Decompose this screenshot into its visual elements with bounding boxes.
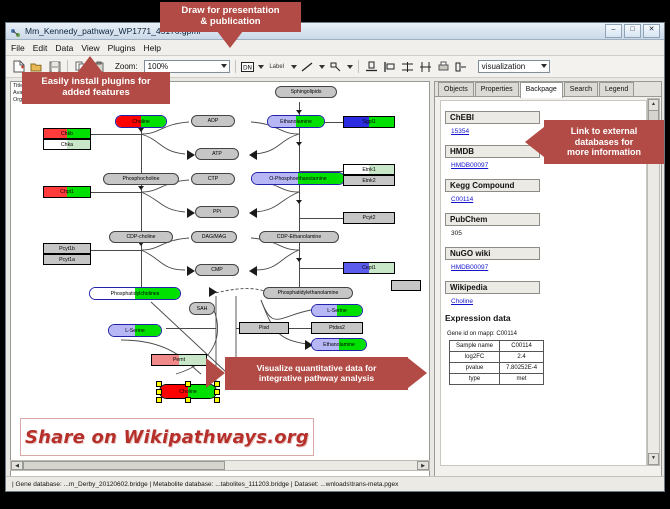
menu-bar: File Edit Data View Plugins Help [6, 40, 664, 56]
datanode-icon[interactable]: DN [241, 59, 254, 74]
selection-handle-s[interactable] [185, 397, 191, 403]
section-header-kegg: Kegg Compound [445, 179, 540, 192]
selection-handle-nw[interactable] [156, 381, 162, 387]
cell-value: met [500, 374, 544, 385]
node-adp[interactable]: ADP [191, 115, 235, 127]
node-label: CDP-choline [126, 234, 155, 240]
selection-handle-se[interactable] [214, 397, 220, 403]
node-label: Pcyt1b [59, 246, 75, 252]
maximize-button[interactable]: □ [624, 24, 641, 38]
interaction-dropdown-icon[interactable] [347, 65, 353, 69]
cell-key: type [450, 374, 500, 385]
menu-item-file[interactable]: File [11, 43, 25, 53]
callout-visualize-arrow-right-icon [408, 358, 427, 388]
node-label: Sphingolipids [291, 89, 322, 95]
node-label: CDP-Ethanolamine [277, 234, 321, 240]
print-icon[interactable] [436, 59, 451, 74]
toolbar-separator-2 [235, 60, 236, 73]
menu-item-plugins[interactable]: Plugins [108, 43, 136, 53]
node-pemt[interactable]: Pemt [151, 354, 207, 366]
node-label: SAH [197, 306, 208, 312]
node-dagmag[interactable]: DAG/MAG [191, 231, 237, 243]
link-wikipedia[interactable]: Choline [451, 298, 642, 305]
callout-plugins: Easily install plugins for added feature… [22, 72, 170, 104]
chevron-down-icon [221, 64, 227, 68]
label-dropdown-icon[interactable] [291, 65, 297, 69]
zoom-value: 100% [148, 62, 168, 71]
node-label: Phosphatidylcholines [111, 291, 160, 297]
node-sah[interactable]: SAH [189, 302, 215, 315]
node-ptdss2[interactable]: Ptdss2 [311, 322, 363, 334]
callout-visualize-arrow-icon [206, 358, 225, 388]
panel-tabs: Objects Properties Backpage Search Legen… [435, 82, 661, 97]
interaction-icon[interactable] [328, 59, 343, 74]
expression-data-title: Expression data [445, 313, 646, 323]
node-label: Sgpl1 [362, 119, 375, 125]
cell-value: 2.4 [500, 352, 544, 363]
node-phosphocholine[interactable]: Phosphocholine [103, 173, 179, 185]
distribute-vertical-icon[interactable] [400, 59, 415, 74]
node-label: CMP [211, 267, 223, 273]
node-pcyt2[interactable]: Pcyt2 [343, 212, 395, 224]
cell-key: log2FC [450, 352, 500, 363]
node-misc-right[interactable] [391, 280, 421, 291]
distribute-horizontal-icon[interactable] [418, 59, 433, 74]
arrow-choline-1 [138, 128, 144, 132]
tab-search[interactable]: Search [564, 82, 598, 96]
section-pubchem: PubChem 305 [445, 209, 642, 237]
chevron-down-icon-2 [541, 64, 547, 68]
section-nugo: NuGO wiki HMDB00097 [445, 243, 642, 271]
node-phosphatidylcholines[interactable]: Phosphatidylcholines [89, 287, 181, 300]
scroll-right-icon[interactable]: ▶ [417, 461, 429, 470]
node-label: PPi [213, 209, 221, 215]
node-label: Ptdss2 [329, 325, 345, 331]
node-label: L-Serine [327, 308, 347, 314]
cell-key: pvalue [450, 363, 500, 374]
node-choline-top[interactable]: Choline [115, 115, 167, 128]
node-label: Phosphatidylethanolamine [278, 290, 339, 296]
expression-table: Sample name C00114 log2FC 2.4 pvalue 7.8… [449, 340, 544, 385]
node-ctp[interactable]: CTP [191, 173, 235, 185]
scroll-down-icon[interactable]: ▼ [648, 453, 659, 465]
status-bar: | Gene database: ...m_Derby_20120602.bri… [6, 476, 664, 491]
section-header-pubchem: PubChem [445, 213, 540, 226]
section-wikipedia: Wikipedia Choline [445, 277, 642, 305]
node-label: ADP [208, 118, 219, 124]
section-header-wikipedia: Wikipedia [445, 281, 540, 294]
datanode-dropdown-icon[interactable] [258, 65, 264, 69]
node-l-serine-left[interactable]: L-Serine [108, 324, 162, 337]
node-ethanolamine-bottom[interactable]: Ethanolamine [311, 338, 367, 351]
stub-chk [91, 134, 141, 135]
selection-handle-sw[interactable] [156, 397, 162, 403]
node-label: Pcyt2 [363, 215, 376, 221]
arrow-etn-3 [296, 258, 302, 262]
tab-properties[interactable]: Properties [475, 82, 519, 96]
node-cdp-ethanolamine[interactable]: CDP-Ethanolamine [259, 231, 339, 243]
node-label: Ethanolamine [280, 119, 312, 125]
node-o-phosphoethanolamine[interactable]: O-Phosphoethanolamine [251, 172, 345, 185]
node-cmp[interactable]: CMP [195, 264, 239, 276]
cell-value: C00114 [500, 341, 544, 352]
stub-pisd [166, 328, 216, 329]
callout-visualize: Visualize quantitative data for integrat… [225, 357, 408, 390]
backbone-ethanolamine [299, 102, 300, 292]
table-row: pvalue 7.80252E-4 [450, 363, 544, 374]
node-label: Pcyt1a [59, 257, 75, 263]
group-icon[interactable] [454, 59, 469, 74]
menu-item-data[interactable]: Data [55, 43, 73, 53]
node-label: ATP [212, 151, 222, 157]
node-label: Ethanolamine [323, 342, 355, 348]
link-kegg[interactable]: C00114 [451, 196, 642, 203]
table-row: type met [450, 374, 544, 385]
node-chka[interactable]: Chka [43, 139, 91, 150]
close-button[interactable]: ✕ [643, 24, 660, 38]
pathvisio-app-icon [10, 26, 21, 37]
node-label: Etnk1 [362, 167, 375, 173]
section-header-nugo: NuGO wiki [445, 247, 540, 260]
node-phosphatidylethanolamine[interactable]: Phosphatidylethanolamine [263, 287, 353, 299]
node-label: Chka [61, 142, 73, 148]
callout-links: Link to external databases for more info… [544, 120, 664, 164]
arrow-choline-2 [138, 186, 144, 190]
toolbar-separator-3 [358, 60, 359, 73]
callout-draw: Draw for presentation & publication [160, 2, 301, 32]
node-label: Choline [132, 119, 150, 125]
node-sphingolipids[interactable]: Sphingolipids [275, 86, 337, 98]
node-label: Etnk2 [362, 178, 375, 184]
stub-cept1 [299, 268, 344, 269]
node-pcyt1b[interactable]: Pcyt1b [43, 243, 91, 254]
node-label: Choline [179, 389, 197, 395]
node-chkb[interactable]: Chkb [43, 128, 91, 139]
screenshot-root: Mm_Kennedy_pathway_WP1771_45176.gpml – □… [0, 0, 670, 509]
node-label: CTP [208, 176, 218, 182]
node-label: Chpt1 [60, 189, 74, 195]
arrow-etn-0 [296, 110, 302, 114]
node-label: Chkb [61, 131, 73, 137]
node-pisd[interactable]: Pisd [239, 322, 289, 334]
callout-share-box: Share on Wikipathways.org [20, 418, 314, 456]
node-etnk1[interactable]: Etnk1 [343, 164, 395, 175]
selection-handle-w[interactable] [156, 389, 162, 395]
selection-handle-e[interactable] [214, 389, 220, 395]
backbone-choline [141, 120, 142, 290]
arrow-etn-1 [296, 142, 302, 146]
stub-pcyt2 [299, 218, 344, 219]
node-pcyt1a[interactable]: Pcyt1a [43, 254, 91, 265]
section-kegg: Kegg Compound C00114 [445, 175, 642, 203]
section-header-chebi: ChEBI [445, 111, 540, 124]
node-cdp-choline[interactable]: CDP-choline [109, 231, 173, 243]
node-ppi[interactable]: PPi [195, 206, 239, 218]
zoom-label: Zoom: [115, 62, 138, 71]
hscroll-thumb[interactable] [23, 461, 225, 470]
gene-id-line: Gene id on mapp: C00114 [447, 331, 646, 337]
label-tool-icon[interactable]: Label [267, 59, 287, 74]
selection-handle-n[interactable] [185, 381, 191, 387]
value-pubchem: 305 [451, 230, 642, 237]
node-ethanolamine-top[interactable]: Ethanolamine [267, 115, 325, 128]
node-label: Cept1 [362, 265, 376, 271]
minimize-button[interactable]: – [605, 24, 622, 38]
menu-item-help[interactable]: Help [144, 43, 161, 53]
link-nugo[interactable]: HMDB00097 [451, 264, 642, 271]
node-label: Pemt [173, 357, 185, 363]
tab-legend[interactable]: Legend [599, 82, 634, 96]
status-text: | Gene database: ...m_Derby_20120602.bri… [6, 481, 398, 488]
tab-backpage[interactable]: Backpage [520, 82, 563, 98]
node-l-serine-right[interactable]: L-Serine [311, 304, 363, 317]
canvas-horizontal-scrollbar[interactable]: ◀ ▶ [10, 460, 430, 471]
node-chpt1[interactable]: Chpt1 [43, 186, 91, 198]
node-atp[interactable]: ATP [195, 148, 239, 160]
cell-key: Sample name [450, 341, 500, 352]
callout-draw-arrow-icon [217, 31, 243, 48]
node-sgpl1[interactable]: Sgpl1 [343, 116, 395, 128]
scroll-left-icon[interactable]: ◀ [11, 461, 23, 470]
callout-share-text: Share on Wikipathways.org [25, 427, 309, 448]
line-icon[interactable] [300, 59, 315, 74]
line-dropdown-icon[interactable] [319, 65, 325, 69]
menu-item-view[interactable]: View [81, 43, 99, 53]
node-cept1[interactable]: Cept1 [343, 262, 395, 274]
window-controls: – □ ✕ [605, 24, 660, 38]
table-row: log2FC 2.4 [450, 352, 544, 363]
node-label: DAG/MAG [202, 234, 227, 240]
tab-objects[interactable]: Objects [438, 82, 474, 96]
visualization-combobox[interactable]: visualization [478, 60, 550, 73]
callout-links-arrow-icon [525, 127, 544, 157]
node-label: Phosphocholine [123, 176, 160, 182]
node-etnk2[interactable]: Etnk2 [343, 175, 395, 186]
align-left-icon[interactable] [382, 59, 397, 74]
node-label: L-Serine [125, 328, 145, 334]
title-bar: Mm_Kennedy_pathway_WP1771_45176.gpml – □… [6, 23, 664, 40]
node-label: O-Phosphoethanolamine [269, 176, 326, 182]
menu-item-edit[interactable]: Edit [33, 43, 48, 53]
node-label: Pisd [259, 325, 269, 331]
align-bottom-icon[interactable] [364, 59, 379, 74]
svg-text:DN: DN [243, 64, 252, 71]
stub-chpt1 [91, 192, 141, 193]
visualization-value: visualization [482, 62, 526, 71]
cell-value: 7.80252E-4 [500, 363, 544, 374]
table-row: Sample name C00114 [450, 341, 544, 352]
arrow-etn-2 [296, 200, 302, 204]
callout-plugins-arrow-icon [77, 56, 103, 73]
stub-pcyt1 [91, 250, 141, 251]
